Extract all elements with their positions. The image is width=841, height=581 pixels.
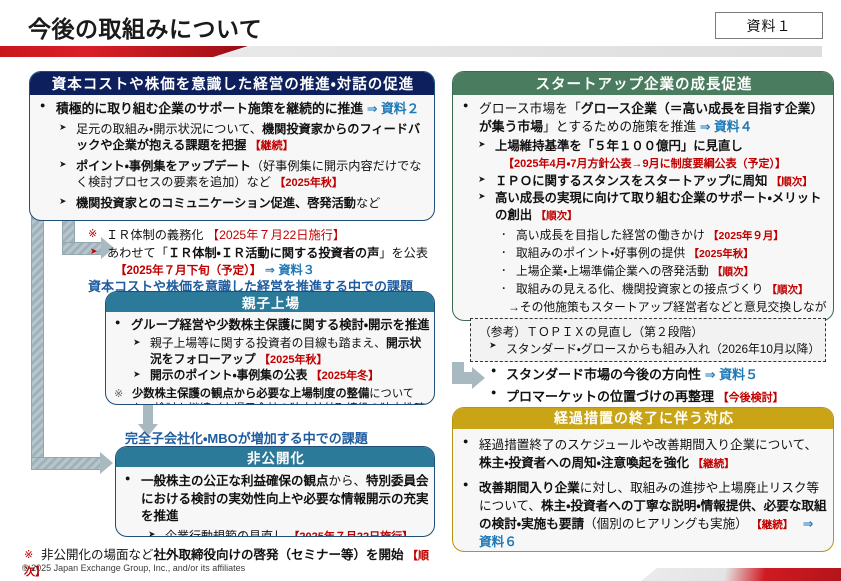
list-item: グロース市場を「グロース企業（＝高い成長を目指す企業）が集う市場」とするための施… [462,100,828,136]
connector-arrow-private [100,452,113,474]
connector-label-challenge-2: 完全子会社化・MBOが増加する中での課題 [125,428,445,447]
list-item: グループ経営や少数株主保護に関する検討・開示を推進 [114,317,430,334]
note-item: ＩＲ体制の義務化 【2025年７月22日施行】 [88,227,433,244]
list-item: スタンダード市場の今後の方向性 ⇒ 資料５ [490,365,830,385]
list-item: 一般株主の公正な利益確保の観点から、特別委員会における検討の実効性向上や必要な情… [124,473,430,526]
right-connector-arrow [472,367,485,389]
panel-header-startup: スタートアップ企業の成長促進 [452,71,834,95]
list-item: 取組みのポイント・好事例の提供 【2025年秋】 [502,245,828,263]
list-item: 機関投資家とのコミュニケーション促進、啓発活動など [57,195,429,212]
right-arrow-items: スタンダード市場の今後の方向性 ⇒ 資料５ プロマーケットの位置づけの再整理 【… [490,365,830,409]
list-item: 高い成長を目指した経営の働きかけ 【2025年９月】 [502,227,828,245]
notes-capital-cost: ＩＲ体制の義務化 【2025年７月22日施行】 あわせて「ＩＲ体制・ＩＲ活動に関… [88,227,433,279]
connector-stripe-outer-foot [31,457,103,470]
list-item: 改善期間入り企業に対し、取組みの進捗や上場廃止リスク等について、株主・投資者への… [462,479,828,552]
list-item: 親子上場等に関する投資者の目線も踏まえ、開示状況をフォローアップ 【2025年秋… [131,336,430,368]
left-bottom-note: 非公開化の場面など社外取締役向けの啓発（セミナー等）を開始 【順次】 [24,544,444,579]
right-connector-shaft-h [452,372,474,384]
list-item: ＩＰＯに関するスタンスをスタートアップに周知 【順次】 [476,173,828,190]
header-gray-bar [214,46,822,57]
list-item: 上場企業・上場準備企業への啓発活動 【順次】 [502,263,828,281]
list-item: 取組みの見える化、機関投資家との接点づくり 【順次】 [502,281,828,299]
list-item: 経過措置終了のスケジュールや改善期間入り企業について、株主・投資者への周知・注意… [462,436,828,473]
slide-root: 今後の取組みについて 資料１ 資本コストや株価を意識した経営の推進・対話の促進 … [0,0,841,581]
list-item: ポイント・事例集をアップデート（好事例集に開示内容だけでなく検討プロセスの要素を… [57,158,429,192]
slide-header: 今後の取組みについて 資料１ [0,8,841,48]
list-item: 足元の取組み・開示状況について、機関投資家からのフィードバックや企業が抱える課題… [57,121,429,155]
list-item: 積極的に取り組む企業のサポート施策を継続的に推進 ⇒ 資料２ [39,100,429,118]
list-item: 企業行動規範の見直し 【2025年７月22日施行】 [146,528,430,538]
list-item: 高い成長の実現に向けて取り組む企業のサポート・メリットの創出 【順次】 [476,190,828,225]
note-item: あわせて「ＩＲ体制・ＩＲ活動に関する投資者の声」を公表 【2025年７月下旬（予… [88,245,433,279]
panel-header-parent-child: 親子上場 [105,291,435,312]
reference-title: （参考）ＴＯＰＩＸの見直し（第２段階） [479,323,703,340]
reference-box: （参考）ＴＯＰＩＸの見直し（第２段階） スタンダード・グロースからも組み入れ（2… [470,318,826,362]
list-item: 開示のポイント・事例集の公表 【2025年冬】 [131,368,430,384]
panel-going-private: 非公開化 一般株主の公正な利益確保の観点から、特別委員会における検討の実効性向上… [115,446,435,537]
header-red-bar [0,46,248,57]
connector-mid-shaft [143,404,153,426]
panel-header-transition: 経過措置の終了に伴う対応 [452,407,834,429]
panel-capital-cost: 資本コストや株価を意識した経営の推進・対話の促進 積極的に取り組む企業のサポート… [29,71,435,221]
note-item: 少数株主保護の観点から必要な上場制度の整備についても、検討を継続（上場子会社の独… [114,387,430,405]
document-badge: 資料１ [715,12,823,39]
reference-item: スタンダード・グロースからも組み入れ（2026年10月以降） [487,340,820,357]
footer-red-bar [641,568,841,581]
list-item: プロマーケットの位置づけの再整理 【今後検討】 [490,387,830,407]
page-title: 今後の取組みについて [28,10,262,44]
panel-header-going-private: 非公開化 [115,446,435,467]
list-item: 上場維持基準を「５年１００億円」に見直し 【2025年4月・7月方針公表→9月に… [476,138,828,173]
panel-startup-growth: スタートアップ企業の成長促進 グロース市場を「グロース企業（＝高い成長を目指す企… [452,71,834,321]
panel-transition-measures: 経過措置の終了に伴う対応 経過措置終了のスケジュールや改善期間入り企業について、… [452,407,834,552]
copyright-footer: © 2025 Japan Exchange Group, Inc., and/o… [22,563,245,573]
panel-parent-child: 親子上場 グループ経営や少数株主保護に関する検討・開示を推進 親子上場等に関する… [105,291,435,405]
panel-header-capital-cost: 資本コストや株価を意識した経営の推進・対話の促進 [29,71,435,95]
